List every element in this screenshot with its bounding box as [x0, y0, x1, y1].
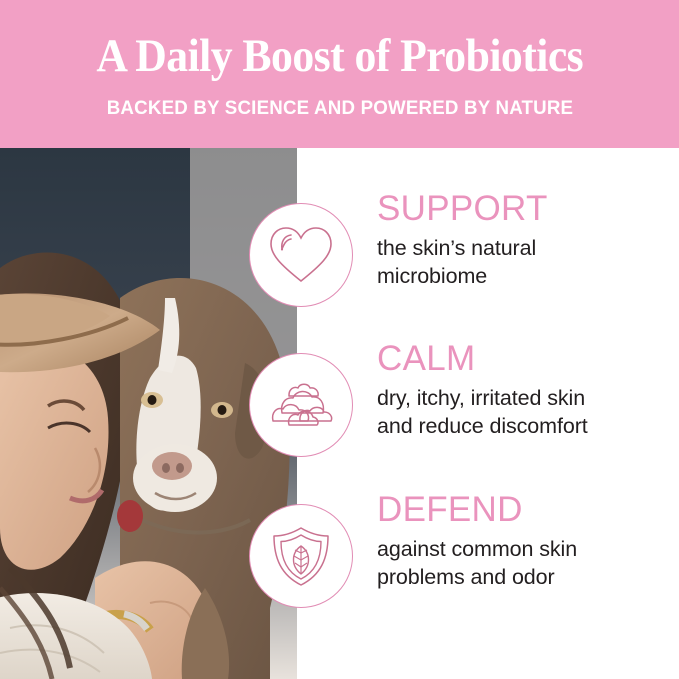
header-banner: A Daily Boost of Probiotics BACKED BY SC…: [0, 0, 679, 148]
product-benefits-poster: A Daily Boost of Probiotics BACKED BY SC…: [0, 0, 679, 679]
benefit-title: DEFEND: [377, 491, 677, 529]
benefit-text-defend: DEFEND against common skin problems and …: [377, 491, 677, 591]
heart-icon: [249, 203, 353, 307]
benefit-body: the skin’s natural microbiome: [377, 234, 677, 290]
benefit-body: against common skin problems and odor: [377, 535, 677, 591]
benefit-text-support: SUPPORT the skin’s natural microbiome: [377, 190, 677, 290]
page-subtitle: BACKED BY SCIENCE AND POWERED BY NATURE: [106, 97, 573, 120]
clouds-icon: [249, 353, 353, 457]
benefit-title: CALM: [377, 340, 677, 378]
page-title: A Daily Boost of Probiotics: [96, 33, 583, 80]
benefit-title: SUPPORT: [377, 190, 677, 228]
benefits-list: SUPPORT the skin’s natural microbiome: [297, 148, 679, 679]
benefit-body: dry, itchy, irritated skin and reduce di…: [377, 384, 677, 440]
shield-leaf-icon: [249, 504, 353, 608]
benefit-text-calm: CALM dry, itchy, irritated skin and redu…: [377, 340, 677, 440]
